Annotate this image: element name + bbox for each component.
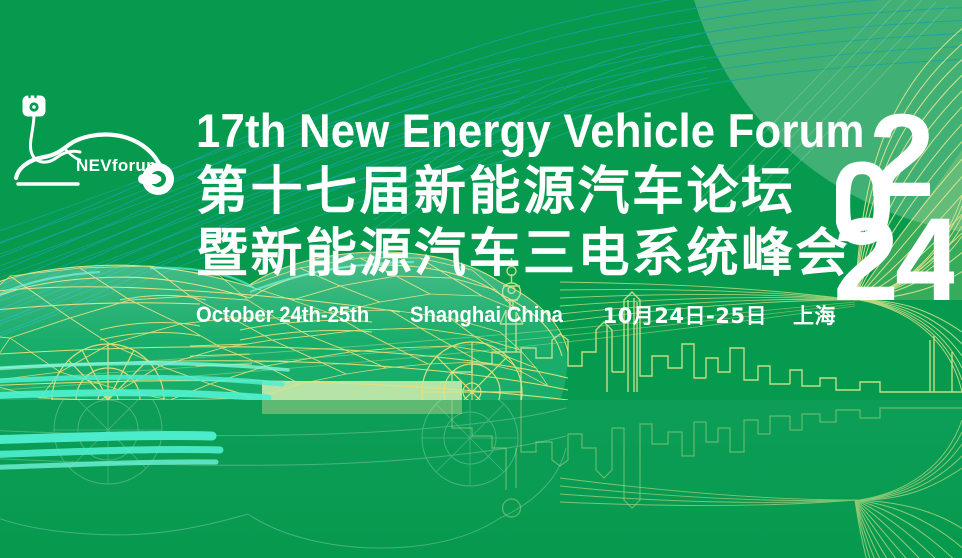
nev-forum-logo[interactable]: NEVforum xyxy=(8,78,188,208)
event-banner: NEVforum 2 0 2 4 17th New Energy Vehicle… xyxy=(0,0,962,558)
logo-wordmark: NEVforum xyxy=(76,156,162,176)
plug-dot-inner-icon xyxy=(32,105,36,109)
year-2024: 2 0 2 4 xyxy=(836,104,954,304)
city-english: Shanghai China xyxy=(410,302,563,328)
date-line: October 24th-25th Shanghai China 10月24日-… xyxy=(196,300,836,330)
logo-brand-light: forum xyxy=(112,156,162,175)
date-chinese: 10月24日-25日 xyxy=(603,300,767,330)
title-chinese-line2: 暨新能源汽车三电系统峰会 xyxy=(196,224,836,284)
year-digit-2b: 2 xyxy=(836,194,899,304)
title-block: 17th New Energy Vehicle Forum 第十七届新能源汽车论… xyxy=(196,104,836,330)
year-digit-4: 4 xyxy=(895,194,954,304)
city-chinese: 上海 xyxy=(793,300,836,330)
title-chinese-line1: 第十七届新能源汽车论坛 xyxy=(196,162,836,222)
date-english: October 24th-25th xyxy=(196,302,369,328)
logo-brand-bold: NEV xyxy=(76,156,112,175)
title-english: 17th New Energy Vehicle Forum xyxy=(196,104,791,158)
